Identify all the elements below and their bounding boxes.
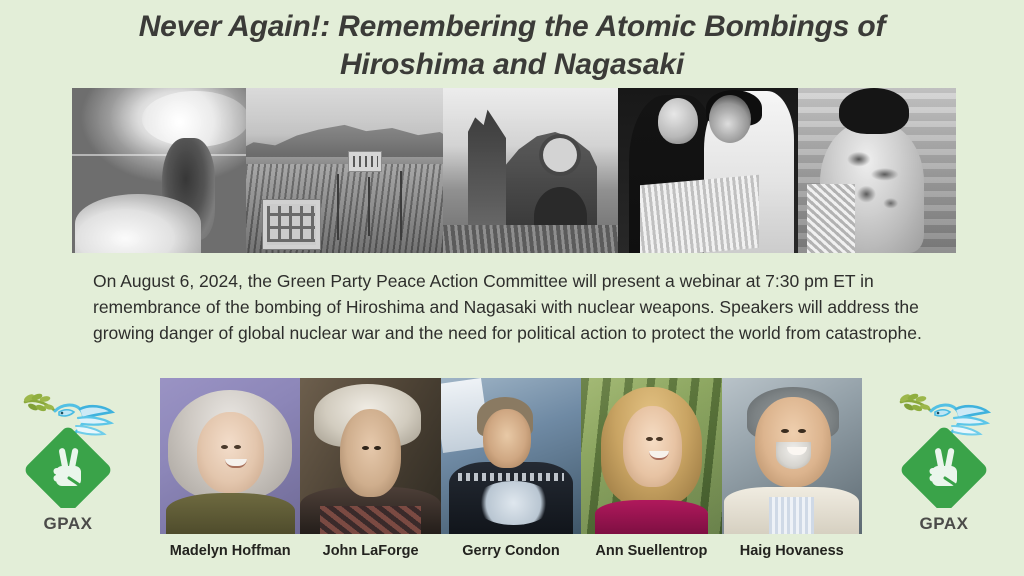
face [623, 406, 682, 487]
utility-pole [400, 171, 402, 240]
eye-left [781, 429, 789, 433]
eye-right [656, 437, 663, 441]
straw-mat [640, 175, 759, 253]
gpax-wordmark: GPAX [888, 514, 1000, 534]
face [755, 397, 831, 487]
olive-branch-icon [23, 392, 55, 412]
debris-ground [443, 225, 618, 253]
speaker-name-row: Madelyn Hoffman John LaForge Gerry Condo… [160, 543, 862, 567]
speaker-name: Haig Hovaness [722, 543, 862, 567]
veterans-for-peace-text [458, 473, 565, 481]
torso [595, 500, 707, 534]
eye-right [798, 429, 806, 433]
speaker-photo-haig-hovaness [722, 378, 862, 534]
speaker-photo-john-laforge [300, 378, 440, 534]
torso [166, 493, 295, 534]
photo-ruined-cathedral [443, 88, 618, 253]
olive-branch-icon [899, 392, 931, 412]
announcement-paragraph: On August 6, 2024, the Green Party Peace… [93, 268, 945, 346]
eye-right [374, 446, 381, 450]
speaker-name: Gerry Condon [441, 543, 581, 567]
speaker-photo-gerry-condon [441, 378, 581, 534]
eye-left [221, 445, 228, 449]
photo-destroyed-cityscape [246, 88, 443, 253]
kimono-garment [807, 184, 854, 253]
utility-pole [368, 177, 370, 236]
speaker-name: Ann Suellentrop [581, 543, 721, 567]
veterans-for-peace-emblem [474, 481, 553, 525]
survivor-head [839, 88, 909, 134]
gpax-logo-art [888, 388, 1000, 508]
speaker-name: Madelyn Hoffman [160, 543, 300, 567]
eye-left [362, 446, 369, 450]
standing-building-near [262, 199, 321, 250]
shirt-collar [769, 497, 814, 534]
mouth [649, 451, 669, 460]
peace-hand-diamond-icon [899, 425, 990, 508]
mouth [225, 459, 247, 468]
gpax-logo-art [12, 388, 124, 508]
speaker-name: John LaForge [300, 543, 440, 567]
speaker-photo-madelyn-hoffman [160, 378, 300, 534]
page-title-line-2: Hiroshima and Nagasaki [0, 46, 1024, 84]
speaker-photo-ann-suellentrop [581, 378, 721, 534]
hill-range [246, 118, 443, 158]
face [197, 412, 264, 493]
face [340, 409, 402, 496]
face [483, 409, 531, 468]
beard [776, 442, 811, 469]
survivor-head [709, 95, 751, 143]
photo-atomic-mushroom-cloud [72, 88, 246, 253]
cloud-base [75, 194, 200, 253]
horizon-line [72, 154, 246, 156]
peace-hand-diamond-icon [23, 425, 114, 508]
caregiver-head [658, 98, 698, 144]
cathedral-tower [468, 105, 507, 234]
rose-window [543, 138, 577, 172]
photo-survivors-being-treated [618, 88, 798, 253]
eye-right [234, 445, 241, 449]
gpax-logo-right: GPAX [888, 388, 1000, 536]
page-title: Never Again!: Remembering the Atomic Bom… [0, 8, 1024, 85]
historic-photo-strip [72, 88, 956, 253]
gpax-logo-left: GPAX [12, 388, 124, 536]
photo-burn-scarred-back [798, 88, 956, 253]
scarf [320, 506, 421, 534]
speaker-photo-row [160, 378, 862, 534]
page-title-line-1: Never Again!: Remembering the Atomic Bom… [0, 8, 1024, 46]
standing-building-far [348, 151, 381, 172]
utility-pole [337, 174, 339, 240]
eye-left [646, 437, 653, 441]
gpax-wordmark: GPAX [12, 514, 124, 534]
